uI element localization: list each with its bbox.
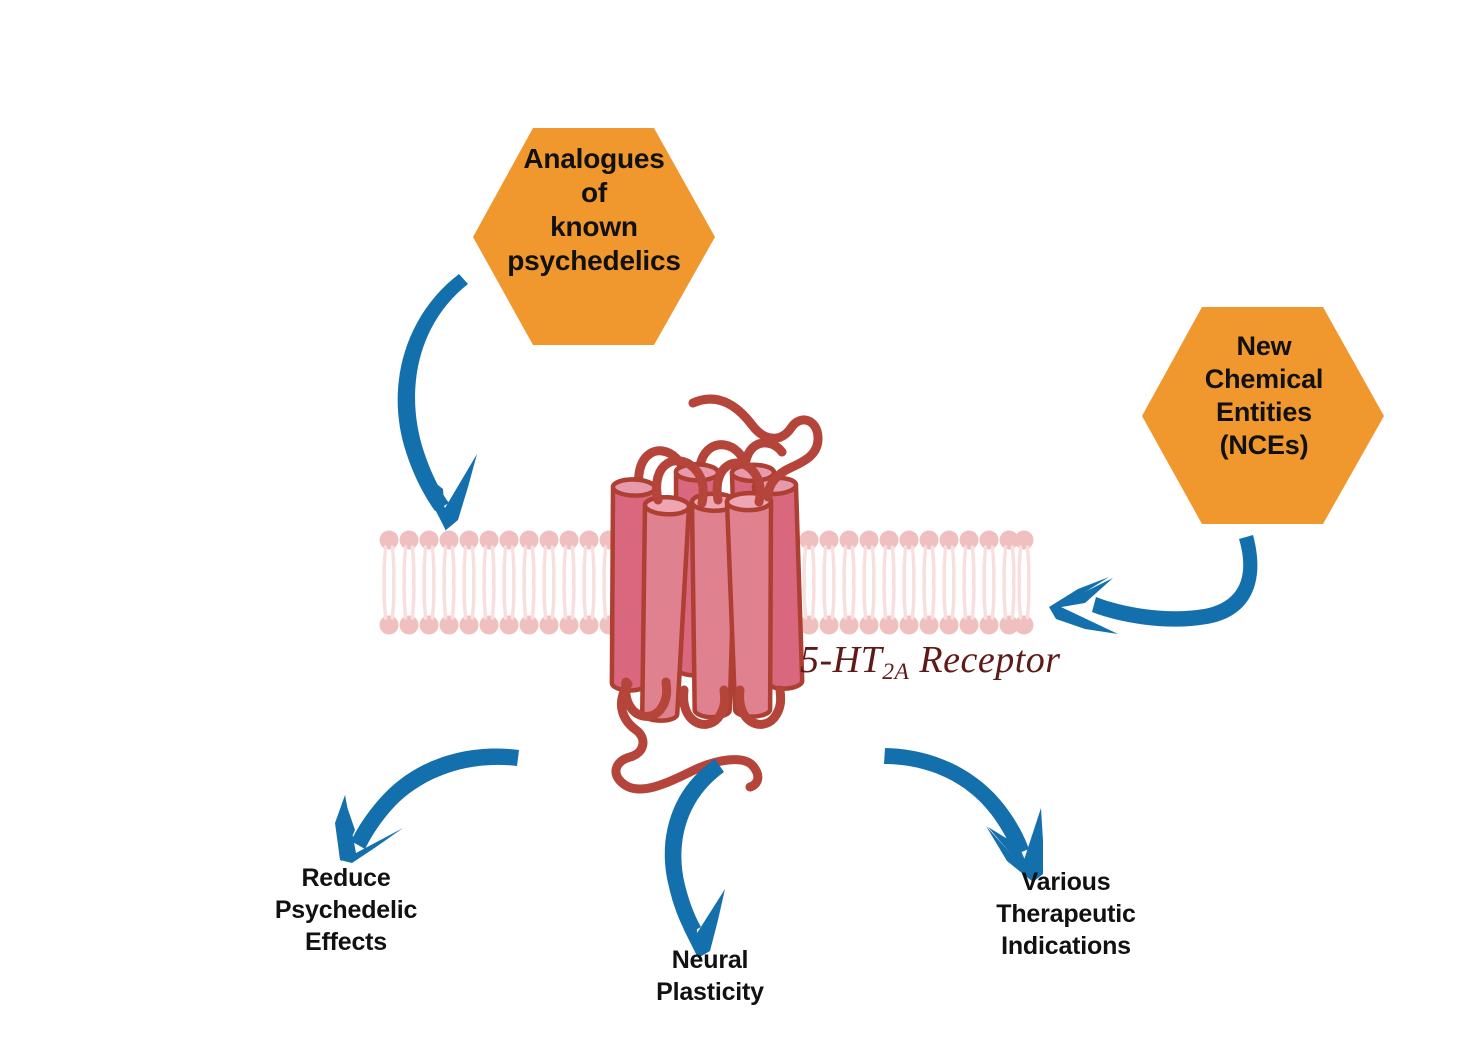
- arrow-receptor-to-reduce-effects: [335, 749, 519, 863]
- arrow-nces-to-receptor: [1049, 535, 1257, 634]
- receptor-name-suffix: Receptor: [909, 639, 1060, 681]
- outcome-label-various-therapeutic-indications: Various Therapeutic Indications: [935, 866, 1197, 962]
- receptor-name-subscript: 2A: [882, 659, 909, 685]
- arrow-analogues-to-receptor: [398, 274, 477, 531]
- arrow-receptor-to-neural-plasticity: [665, 759, 725, 958]
- receptor-name-prefix: 5-HT: [800, 639, 882, 681]
- receptor-name-label: 5-HT2A Receptor: [800, 638, 1061, 682]
- outcome-label-neural-plasticity: Neural Plasticity: [595, 944, 825, 1008]
- outcome-label-reduce-psychedelic-effects: Reduce Psychedelic Effects: [215, 862, 477, 958]
- diagram-canvas: Analogues of known psychedelics New Chem…: [0, 0, 1469, 1050]
- arrow-receptor-to-therapeutic-indications: [884, 748, 1043, 882]
